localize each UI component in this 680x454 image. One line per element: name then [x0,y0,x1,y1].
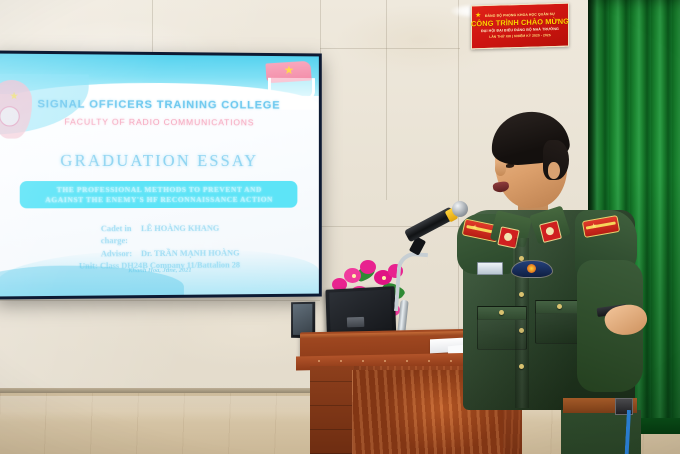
congress-welcome-banner: ★ ĐẢNG BỘ PHÒNG KHOA HỌC QUÂN SỰ CÔNG TR… [471,3,569,50]
jacket-button [519,364,524,369]
slide-topic-line-2: AGAINST THE ENEMY'S HF RECONNAISSANCE AC… [26,194,292,204]
projection-screen-frame: ★ ★ SIGNAL OFFICERS TRAINING COLLEGE FAC… [0,50,322,299]
credit-label: Cadet in charge: [54,223,141,248]
wall-tile-seam [0,300,320,301]
credit-value: LÊ HOÀNG KHANG [141,223,264,248]
wall-tile-seam [386,0,387,200]
flower-petal [360,260,376,274]
epaulette-star-icon: ★ [471,224,479,232]
projected-slide: ★ ★ SIGNAL OFFICERS TRAINING COLLEGE FAC… [0,54,319,297]
slide-topic-box: THE PROFESSIONAL METHODS TO PREVENT AND … [20,181,298,209]
slide-topic-line-1: THE PROFESSIONAL METHODS TO PREVENT AND [26,185,292,195]
slide-institution-title: SIGNAL OFFICERS TRAINING COLLEGE [0,98,319,112]
epaulette-star-icon: ★ [590,223,597,231]
banner-line-4: LẦN THỨ XIII | NHIỆM KỲ 2020 - 2025 [489,33,551,40]
pocket-button [499,310,504,315]
microphone-gooseneck [394,251,428,313]
lectern-side-panel [310,366,354,454]
nose [495,162,506,176]
presentation-room-photo: ★ ĐẢNG BỘ PHÒNG KHOA HỌC QUÂN SỰ CÔNG TR… [0,0,680,454]
emblem-star-icon: ★ [284,64,295,76]
credit-row: Cadet in charge: LÊ HOÀNG KHANG [0,222,319,248]
name-tag [477,262,503,275]
wall-tile-seam [320,48,460,49]
pocket-button [557,304,562,309]
flower-center [382,276,386,280]
military-qualification-badge [511,260,553,278]
laptop[interactable] [325,286,396,337]
monitor-screen [293,304,312,335]
jacket-button [519,292,524,297]
laptop-logo [347,317,365,327]
flower-center [352,274,356,278]
slide-main-heading: GRADUATION ESSAY [0,151,319,171]
ear [548,162,560,179]
cadet-presenter: ★ ★ [455,110,645,454]
slide-faculty-subtitle: FACULTY OF RADIO COMMUNICATIONS [0,116,319,127]
